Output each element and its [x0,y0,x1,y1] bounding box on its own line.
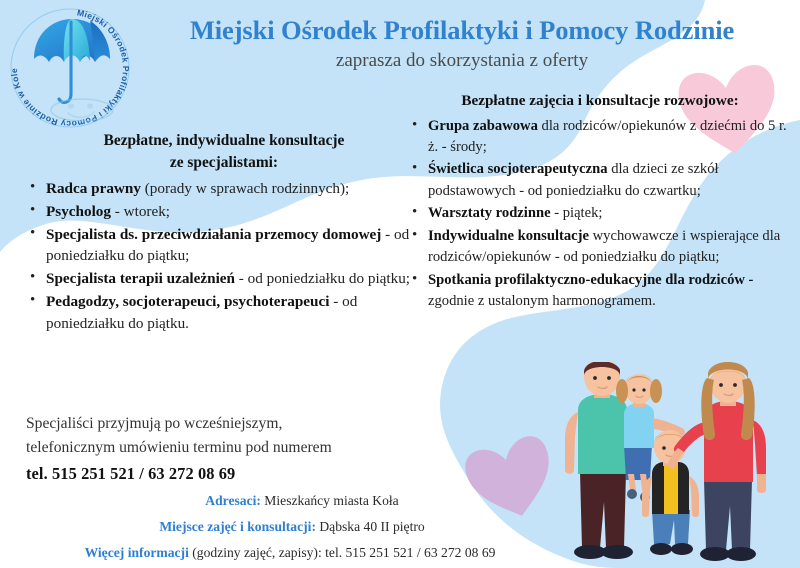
list-item-rest: (porady w sprawach rodzinnych); [141,180,349,197]
list-item-rest: - piątek; [551,205,603,221]
page-subtitle: zaprasza do skorzystania z oferty [136,50,788,73]
contact-phone[interactable]: tel. 515 251 521 / 63 272 08 69 [26,462,446,487]
list-item: • Radca prawny (porady w sprawach rodzin… [24,178,424,200]
bullet-icon: • [30,200,35,222]
list-item-bold: Specjalista terapii uzależnień [46,270,235,287]
footer-row: Adresaci: Mieszkańcy miasta Koła [10,488,570,514]
footer-label: Więcej informacji [85,545,189,560]
footer-row: Miejsce zajęć i konsultacji: Dąbska 40 I… [10,514,570,540]
list-item: • Specjalista terapii uzależnień - od po… [24,268,424,290]
right-services-list: • Grupa zabawowa dla rodziców/opiekunów … [408,116,792,313]
umbrella-icon [34,19,110,102]
list-item-bold: Świetlica socjoterapeutyczna [428,161,608,177]
footer-value: Mieszkańcy miasta Koła [261,493,399,508]
family-illustration [548,362,800,568]
footer-label: Adresaci: [205,493,261,508]
footer-value: (godziny zajęć, zapisy): tel. 515 251 52… [189,545,496,560]
poster: Miejski Ośrodek Profilaktyki i Pomocy Ro… [0,0,800,568]
bullet-icon: • [412,115,417,137]
contact-line-2: telefonicznym umówieniu terminu pod nume… [26,436,446,460]
left-column-heading: Bezpłatne, indywidualne konsultacje ze s… [24,130,424,174]
footer-info: Adresaci: Mieszkańcy miasta Koła Miejsce… [10,488,570,566]
list-item-bold: Pedagodzy, socjoterapeuci, psychoterapeu… [46,293,329,310]
list-item-bold: Spotkania profilaktyczno-edukacyjne dla … [428,272,753,288]
left-services-list: • Radca prawny (porady w sprawach rodzin… [24,178,424,335]
bullet-icon: • [30,290,35,312]
contact-line-1: Specjaliści przyjmują po wcześniejszym, [26,412,446,436]
left-column: Bezpłatne, indywidualne konsultacje ze s… [24,130,424,336]
bullet-icon: • [412,225,417,247]
bullet-icon: • [412,158,417,180]
list-item-rest: zgodnie z ustalonym harmonogramem. [428,293,656,309]
poster-header: Miejski Ośrodek Profilaktyki i Pomocy Ro… [136,16,788,72]
organization-logo: Miejski Ośrodek Profilaktyki i Pomocy Ro… [4,2,136,130]
list-item: • Spotkania profilaktyczno-edukacyjne dl… [408,270,792,313]
list-item-bold: Warsztaty rodzinne [428,205,551,221]
page-title: Miejski Ośrodek Profilaktyki i Pomocy Ro… [136,16,788,46]
bullet-icon: • [412,202,417,224]
list-item-bold: Psycholog [46,203,111,220]
footer-label: Miejsce zajęć i konsultacji: [159,519,316,534]
left-heading-line-1: Bezpłatne, indywidualne konsultacje [24,130,424,152]
right-column-heading: Bezpłatne zajęcia i konsultacje rozwojow… [408,90,792,112]
list-item: • Pedagodzy, socjoterapeuci, psychoterap… [24,291,424,335]
footer-value: Dąbska 40 II piętro [316,519,425,534]
list-item: • Indywidualne konsultacje wychowawcze i… [408,226,792,269]
bullet-icon: • [30,267,35,289]
list-item: • Grupa zabawowa dla rodziców/opiekunów … [408,116,792,159]
contact-block: Specjaliści przyjmują po wcześniejszym, … [26,412,446,487]
list-item-bold: Radca prawny [46,180,141,197]
list-item-bold: Indywidualne konsultacje [428,228,589,244]
left-heading-line-2: ze specjalistami: [24,152,424,174]
list-item-bold: Specjalista ds. przeciwdziałania przemoc… [46,226,381,243]
list-item: • Warsztaty rodzinne - piątek; [408,203,792,224]
bullet-icon: • [412,269,417,291]
footer-row: Więcej informacji (godziny zajęć, zapisy… [10,540,570,566]
list-item: • Specjalista ds. przeciwdziałania przem… [24,224,424,268]
list-item-bold: Grupa zabawowa [428,118,538,134]
bullet-icon: • [30,177,35,199]
list-item-rest: - wtorek; [111,203,170,220]
right-column: Bezpłatne zajęcia i konsultacje rozwojow… [408,90,792,314]
bullet-icon: • [30,223,35,245]
list-item-rest: - od poniedziałku do piątku; [235,270,410,287]
list-item: • Psycholog - wtorek; [24,201,424,223]
list-item: • Świetlica socjoterapeutyczna dla dziec… [408,159,792,202]
